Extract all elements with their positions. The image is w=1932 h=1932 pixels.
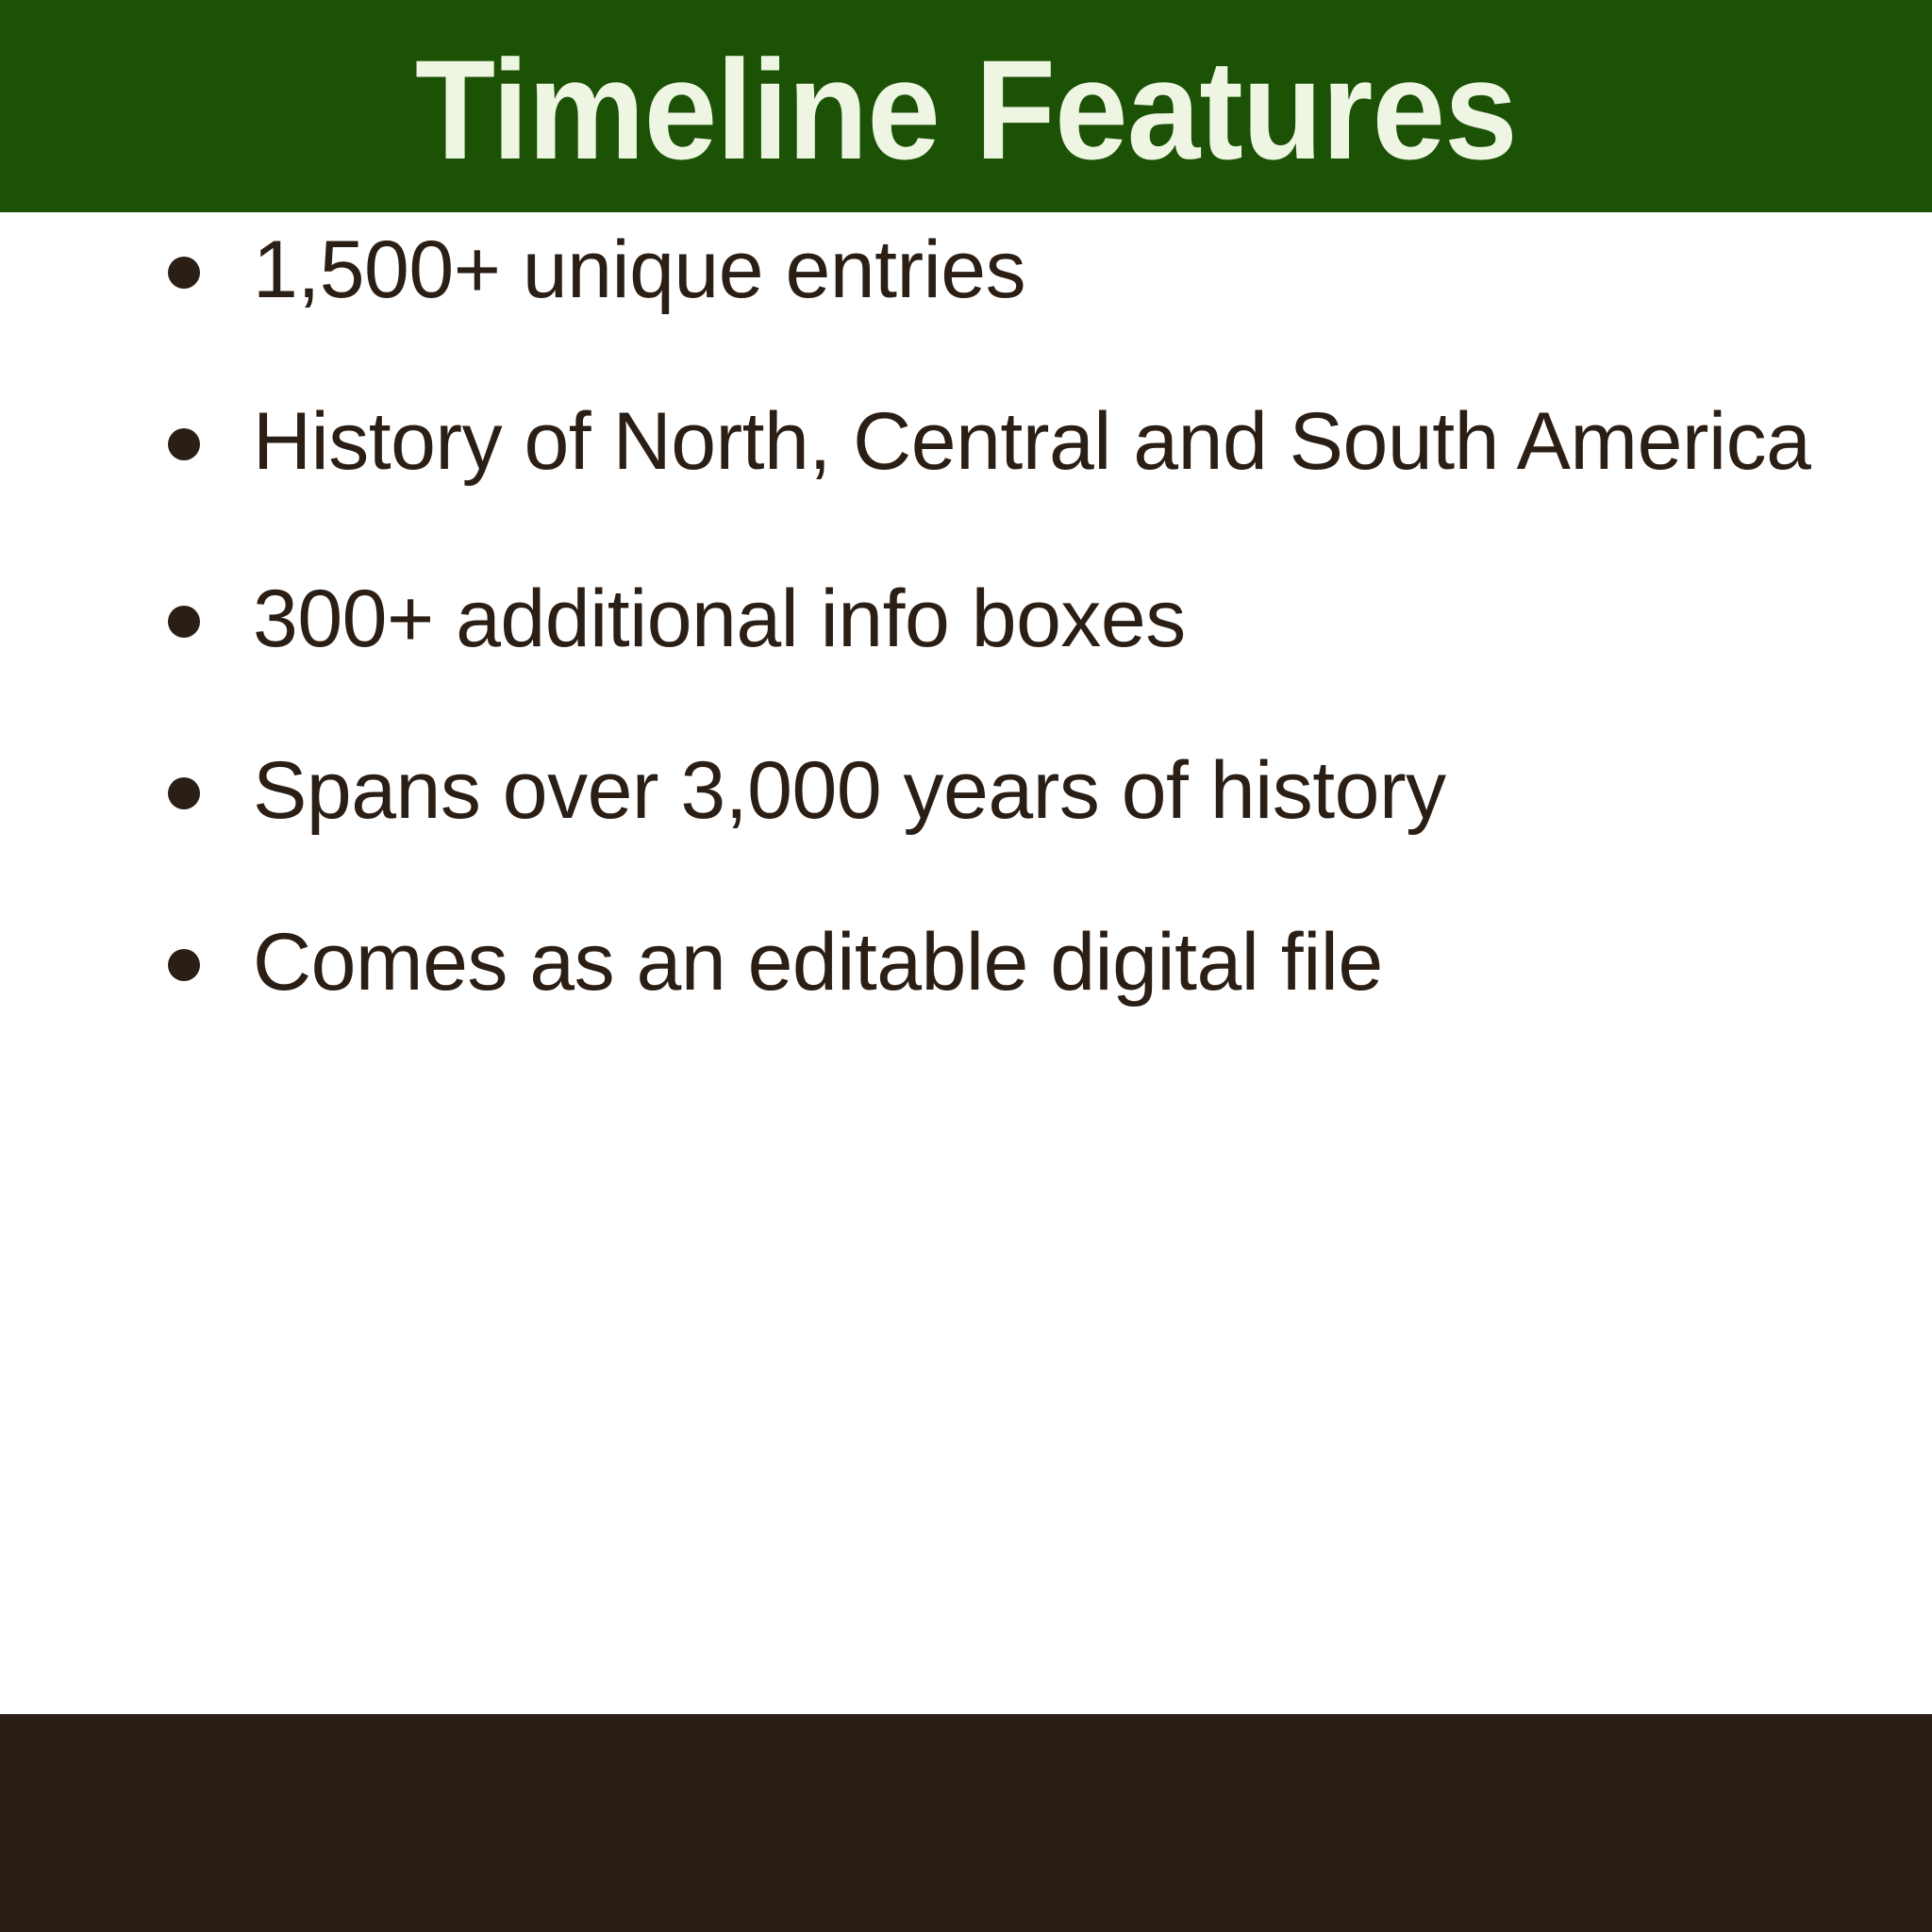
list-item-label: 300+ additional info boxes: [253, 561, 1821, 676]
list-item-label: History of North, Central and South Amer…: [253, 384, 1821, 499]
bullet-dot-icon: [168, 777, 200, 809]
list-item: History of North, Central and South Amer…: [160, 384, 1821, 499]
list-item-label: Comes as an editable digital file: [253, 905, 1821, 1020]
page-title: Timeline Features: [415, 39, 1517, 180]
header-band: Timeline Features: [0, 0, 1932, 212]
list-item-label: Spans over 3,000 years of history: [253, 733, 1821, 848]
feature-bullet-list: 1,500+ unique entries History of North, …: [160, 212, 1821, 1021]
bullet-dot-icon: [168, 257, 200, 289]
slide-canvas: Timeline Features 1,500+ unique entries …: [0, 0, 1932, 1932]
list-item: 300+ additional info boxes: [160, 561, 1821, 676]
list-item-label: 1,500+ unique entries: [253, 212, 1821, 327]
list-item: Spans over 3,000 years of history: [160, 733, 1821, 848]
list-item: 1,500+ unique entries: [160, 212, 1821, 327]
list-item: Comes as an editable digital file: [160, 905, 1821, 1020]
bullet-dot-icon: [168, 606, 200, 638]
bullet-dot-icon: [168, 949, 200, 981]
bullet-dot-icon: [168, 428, 200, 460]
footer-band: [0, 1714, 1932, 1932]
